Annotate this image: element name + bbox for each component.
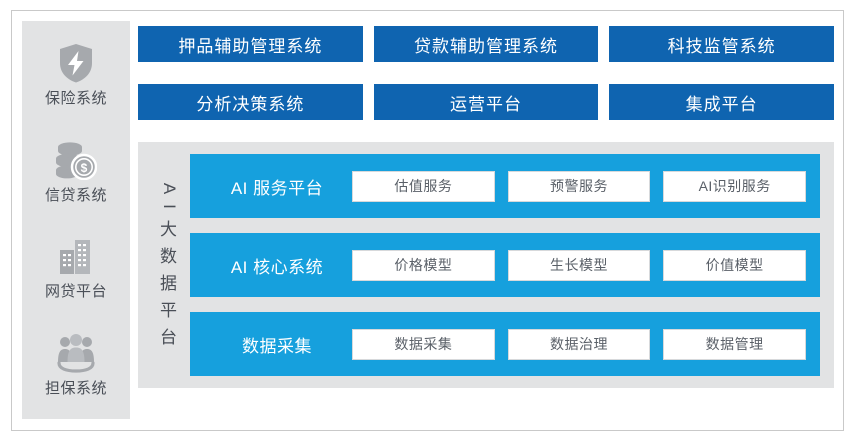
sidebar-item-guarantee[interactable]: 担保系统	[22, 331, 130, 399]
people-group-icon	[54, 331, 98, 375]
sidebar-item-label: 信贷系统	[45, 186, 107, 206]
layer-card-data-management[interactable]: 数据管理	[663, 329, 806, 360]
top-systems-row-1: 押品辅助管理系统 贷款辅助管理系统 科技监管系统	[138, 26, 834, 62]
layer-title: 数据采集	[202, 332, 352, 357]
layer-title: AI 核心系统	[202, 253, 352, 278]
platform-vertical-label-char: 数	[160, 243, 178, 270]
layer-card-value-model[interactable]: 价值模型	[663, 250, 806, 281]
ai-bigdata-platform-panel: A I 大 数 据 平 台 AI 服务平台 估值服务 预警服务 AI识别服务	[138, 142, 834, 388]
layer-card-data-governance[interactable]: 数据治理	[508, 329, 651, 360]
platform-vertical-label-char: 台	[160, 324, 178, 351]
content-area: 押品辅助管理系统 贷款辅助管理系统 科技监管系统 分析决策系统 运营平台 集成平…	[138, 21, 834, 419]
layer-card-price-model[interactable]: 价格模型	[352, 250, 495, 281]
svg-text:$: $	[81, 161, 88, 175]
platform-layer-rows: AI 服务平台 估值服务 预警服务 AI识别服务 AI 核心系统 价格模型 生长…	[190, 154, 820, 376]
system-bar-tech-supervision[interactable]: 科技监管系统	[609, 26, 834, 62]
coins-dollar-icon: $	[54, 138, 98, 182]
platform-vertical-label-char: 平	[160, 297, 178, 324]
layer-card-growth-model[interactable]: 生长模型	[508, 250, 651, 281]
layer-card-valuation-service[interactable]: 估值服务	[352, 171, 495, 202]
sidebar: 保险系统 $ 信贷系统	[22, 21, 130, 419]
buildings-icon	[54, 234, 98, 278]
layer-row-ai-core: AI 核心系统 价格模型 生长模型 价值模型	[190, 233, 820, 297]
sidebar-item-online-lending[interactable]: 网贷平台	[22, 234, 130, 302]
system-bar-operations-platform[interactable]: 运营平台	[374, 84, 599, 120]
layer-card-group: 价格模型 生长模型 价值模型	[352, 250, 806, 281]
layer-card-ai-recognition-service[interactable]: AI识别服务	[663, 171, 806, 202]
platform-vertical-label-char: 据	[160, 270, 178, 297]
layer-row-ai-service: AI 服务平台 估值服务 预警服务 AI识别服务	[190, 154, 820, 218]
sidebar-item-label: 保险系统	[45, 89, 107, 109]
top-systems-row-2: 分析决策系统 运营平台 集成平台	[138, 84, 834, 120]
layer-card-group: 数据采集 数据治理 数据管理	[352, 329, 806, 360]
sidebar-item-label: 网贷平台	[45, 282, 107, 302]
system-bar-analysis-decision[interactable]: 分析决策系统	[138, 84, 363, 120]
system-bar-pledge-management[interactable]: 押品辅助管理系统	[138, 26, 363, 62]
platform-vertical-label-char: 大	[160, 216, 178, 243]
sidebar-item-credit[interactable]: $ 信贷系统	[22, 138, 130, 206]
layer-card-early-warning-service[interactable]: 预警服务	[508, 171, 651, 202]
system-bar-loan-management[interactable]: 贷款辅助管理系统	[374, 26, 599, 62]
platform-vertical-label-char: I	[160, 204, 178, 210]
layer-card-group: 估值服务 预警服务 AI识别服务	[352, 171, 806, 202]
sidebar-item-insurance[interactable]: 保险系统	[22, 41, 130, 109]
layer-row-data-collection: 数据采集 数据采集 数据治理 数据管理	[190, 312, 820, 376]
layer-card-data-collection[interactable]: 数据采集	[352, 329, 495, 360]
layer-title: AI 服务平台	[202, 174, 352, 199]
platform-vertical-label-char: A	[160, 182, 178, 194]
sidebar-item-label: 担保系统	[45, 379, 107, 399]
system-bar-integration-platform[interactable]: 集成平台	[609, 84, 834, 120]
platform-vertical-label: A I 大 数 据 平 台	[148, 154, 190, 376]
shield-bolt-icon	[54, 41, 98, 85]
architecture-diagram-frame: 保险系统 $ 信贷系统	[11, 10, 844, 431]
